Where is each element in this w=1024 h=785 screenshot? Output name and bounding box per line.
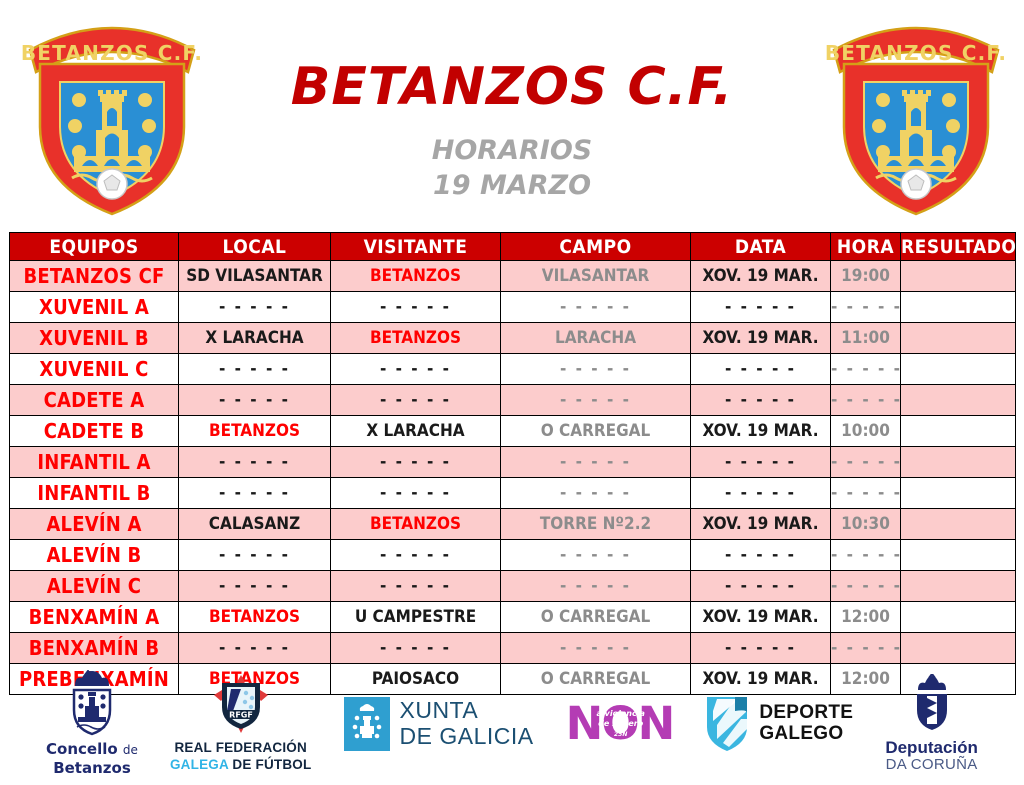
cell-hora: 10:00 xyxy=(831,416,901,447)
non-overlay-text: á violencia de xénero 25N Galicia xyxy=(588,709,654,749)
cell-hora: 12:00 xyxy=(831,602,901,633)
cell-visitante: BETANZOS xyxy=(331,509,501,540)
cell-visitante: U CAMPESTRE xyxy=(331,602,501,633)
concello-line1: Concello xyxy=(46,740,118,758)
deputacion-shield-icon xyxy=(905,674,959,734)
cell-campo: - - - - - xyxy=(501,292,691,323)
deporte-line2: GALEGO xyxy=(759,724,853,745)
non-overlay-line3: 25N xyxy=(614,731,627,738)
sponsor-non-violencia-xenero: NON á violencia de xénero 25N Galicia xyxy=(566,701,674,746)
cell-campo: VILASANTAR xyxy=(501,261,691,292)
cell-data: - - - - - xyxy=(691,478,831,509)
cell-hora: 10:30 xyxy=(831,509,901,540)
column-header-hora: HORA xyxy=(831,233,901,261)
table-row: ALEVÍN ACALASANZBETANZOSTORRE Nº2.2XOV. … xyxy=(10,509,1016,540)
cell-campo: - - - - - xyxy=(501,478,691,509)
cell-visitante: - - - - - xyxy=(331,292,501,323)
rfgf-badge-icon: RFGF xyxy=(210,673,272,735)
cell-hora: - - - - - xyxy=(831,292,901,323)
cell-local: SD VILASANTAR xyxy=(179,261,331,292)
cell-resultado xyxy=(901,478,1016,509)
cell-data: - - - - - xyxy=(691,292,831,323)
cell-campo: - - - - - xyxy=(501,354,691,385)
cell-data: - - - - - xyxy=(691,571,831,602)
cell-visitante: BETANZOS xyxy=(331,261,501,292)
cell-local: X LARACHA xyxy=(179,323,331,354)
cell-campo: - - - - - xyxy=(501,633,691,664)
column-header-resultado: RESULTADO xyxy=(901,233,1016,261)
table-row: INFANTIL B- - - - -- - - - -- - - - -- -… xyxy=(10,478,1016,509)
cell-resultado xyxy=(901,540,1016,571)
rfgf-line2a: GALEGA xyxy=(170,757,228,772)
cell-local: CALASANZ xyxy=(179,509,331,540)
cell-hora: - - - - - xyxy=(831,354,901,385)
table-row: XUVENIL BX LARACHABETANZOSLARACHAXOV. 19… xyxy=(10,323,1016,354)
table-row: BENXAMÍN ABETANZOSU CAMPESTREO CARREGALX… xyxy=(10,602,1016,633)
cell-resultado xyxy=(901,602,1016,633)
subtitle-horarios: HORARIOS xyxy=(220,133,804,168)
svg-text:BETANZOS C.F.: BETANZOS C.F. xyxy=(825,41,1007,65)
sponsor-logos-bar: Concello de Betanzos RFGF REAL FEDERACIÓ… xyxy=(0,662,1024,785)
non-overlay-line4: Galicia xyxy=(609,741,632,748)
cell-equipos: INFANTIL A xyxy=(10,447,179,478)
cell-resultado xyxy=(901,292,1016,323)
cell-equipos: ALEVÍN C xyxy=(10,571,179,602)
deputacion-line1: Deputación xyxy=(885,738,978,757)
cell-hora: 19:00 xyxy=(831,261,901,292)
table-header: EQUIPOS LOCAL VISITANTE CAMPO DATA HORA … xyxy=(10,233,1016,261)
cell-equipos: INFANTIL B xyxy=(10,478,179,509)
cell-visitante: - - - - - xyxy=(331,540,501,571)
cell-campo: O CARREGAL xyxy=(501,602,691,633)
cell-hora: - - - - - xyxy=(831,540,901,571)
non-wordmark-icon: NON á violencia de xénero 25N Galicia xyxy=(566,701,674,746)
title-block: BETANZOS C.F. HORARIOS 19 MARZO xyxy=(220,60,804,203)
cell-data: - - - - - xyxy=(691,633,831,664)
table-row: INFANTIL A- - - - -- - - - -- - - - -- -… xyxy=(10,447,1016,478)
cell-local: - - - - - xyxy=(179,385,331,416)
column-header-data: DATA xyxy=(691,233,831,261)
table-body: BETANZOS CFSD VILASANTARBETANZOSVILASANT… xyxy=(10,261,1016,695)
cell-campo: - - - - - xyxy=(501,571,691,602)
cell-visitante: - - - - - xyxy=(331,478,501,509)
club-crest-left-icon: BETANZOS C.F. xyxy=(12,8,212,223)
rfgf-line1: REAL FEDERACIÓN xyxy=(174,740,307,755)
cell-hora: - - - - - xyxy=(831,478,901,509)
sponsor-deporte-label: DEPORTE GALEGO xyxy=(759,703,853,745)
cell-equipos: XUVENIL A xyxy=(10,292,179,323)
cell-local: - - - - - xyxy=(179,540,331,571)
xunta-badge-icon xyxy=(344,697,390,751)
cell-local: BETANZOS xyxy=(179,416,331,447)
cell-data: - - - - - xyxy=(691,447,831,478)
concello-shield-icon xyxy=(63,670,121,736)
cell-campo: O CARREGAL xyxy=(501,416,691,447)
schedule-table-container: EQUIPOS LOCAL VISITANTE CAMPO DATA HORA … xyxy=(9,232,1015,695)
cell-local: - - - - - xyxy=(179,354,331,385)
cell-local: - - - - - xyxy=(179,478,331,509)
subtitle-date: 19 MARZO xyxy=(220,168,804,203)
table-row: ALEVÍN C- - - - -- - - - -- - - - -- - -… xyxy=(10,571,1016,602)
non-overlay-line1: á violencia xyxy=(596,709,644,718)
column-header-visitante: VISITANTE xyxy=(331,233,501,261)
cell-resultado xyxy=(901,323,1016,354)
cell-equipos: ALEVÍN B xyxy=(10,540,179,571)
column-header-local: LOCAL xyxy=(179,233,331,261)
sponsor-rfgf-label: REAL FEDERACIÓN GALEGA DE FÚTBOL xyxy=(170,740,311,774)
cell-resultado xyxy=(901,509,1016,540)
table-row: ALEVÍN B- - - - -- - - - -- - - - -- - -… xyxy=(10,540,1016,571)
deporte-line1: DEPORTE xyxy=(759,703,853,724)
column-header-campo: CAMPO xyxy=(501,233,691,261)
cell-visitante: X LARACHA xyxy=(331,416,501,447)
sponsor-xunta-de-galicia: XUNTA DE GALICIA xyxy=(344,697,534,751)
concello-line-small: de xyxy=(123,743,138,757)
cell-local: - - - - - xyxy=(179,633,331,664)
concello-line2: Betanzos xyxy=(53,759,131,777)
cell-resultado xyxy=(901,354,1016,385)
xunta-line2: DE GALICIA xyxy=(400,724,534,749)
table-row: XUVENIL C- - - - -- - - - -- - - - -- - … xyxy=(10,354,1016,385)
cell-local: - - - - - xyxy=(179,447,331,478)
table-row: BETANZOS CFSD VILASANTARBETANZOSVILASANT… xyxy=(10,261,1016,292)
svg-text:RFGF: RFGF xyxy=(229,711,253,720)
schedule-table: EQUIPOS LOCAL VISITANTE CAMPO DATA HORA … xyxy=(9,232,1016,695)
table-header-row: EQUIPOS LOCAL VISITANTE CAMPO DATA HORA … xyxy=(10,233,1016,261)
cell-data: XOV. 19 MAR. xyxy=(691,261,831,292)
cell-hora: - - - - - xyxy=(831,447,901,478)
rfgf-line2b: DE FÚTBOL xyxy=(232,757,311,772)
cell-campo: TORRE Nº2.2 xyxy=(501,509,691,540)
cell-visitante: - - - - - xyxy=(331,571,501,602)
cell-data: XOV. 19 MAR. xyxy=(691,323,831,354)
sponsor-concello-betanzos: Concello de Betanzos xyxy=(46,670,138,778)
cell-campo: - - - - - xyxy=(501,540,691,571)
cell-hora: 11:00 xyxy=(831,323,901,354)
cell-equipos: CADETE B xyxy=(10,416,179,447)
cell-hora: - - - - - xyxy=(831,385,901,416)
cell-hora: - - - - - xyxy=(831,571,901,602)
cell-resultado xyxy=(901,447,1016,478)
cell-data: - - - - - xyxy=(691,385,831,416)
cell-visitante: - - - - - xyxy=(331,385,501,416)
cell-campo: - - - - - xyxy=(501,447,691,478)
sponsor-deputacion-label: Deputación DA CORUÑA xyxy=(885,738,978,774)
table-row: CADETE BBETANZOSX LARACHAO CARREGALXOV. … xyxy=(10,416,1016,447)
sponsor-real-federacion-galega-futbol: RFGF REAL FEDERACIÓN GALEGA DE FÚTBOL xyxy=(170,673,311,774)
cell-campo: LARACHA xyxy=(501,323,691,354)
cell-data: XOV. 19 MAR. xyxy=(691,509,831,540)
cell-local: BETANZOS xyxy=(179,602,331,633)
sponsor-xunta-label: XUNTA DE GALICIA xyxy=(400,698,534,749)
sponsor-concello-label: Concello de Betanzos xyxy=(46,740,138,778)
svg-text:BETANZOS C.F.: BETANZOS C.F. xyxy=(21,41,203,65)
cell-local: - - - - - xyxy=(179,571,331,602)
cell-resultado xyxy=(901,571,1016,602)
cell-equipos: XUVENIL C xyxy=(10,354,179,385)
cell-hora: - - - - - xyxy=(831,633,901,664)
deporte-galego-icon xyxy=(705,695,749,753)
cell-data: XOV. 19 MAR. xyxy=(691,602,831,633)
cell-data: - - - - - xyxy=(691,540,831,571)
table-row: CADETE A- - - - -- - - - -- - - - -- - -… xyxy=(10,385,1016,416)
page-title: BETANZOS C.F. xyxy=(220,60,804,115)
cell-resultado xyxy=(901,416,1016,447)
page-header: BETANZOS C.F. xyxy=(0,0,1024,232)
cell-equipos: ALEVÍN A xyxy=(10,509,179,540)
cell-visitante: BETANZOS xyxy=(331,323,501,354)
cell-data: XOV. 19 MAR. xyxy=(691,416,831,447)
cell-campo: - - - - - xyxy=(501,385,691,416)
cell-local: - - - - - xyxy=(179,292,331,323)
sponsor-deporte-galego: DEPORTE GALEGO xyxy=(705,695,853,753)
cell-visitante: - - - - - xyxy=(331,354,501,385)
cell-equipos: BENXAMÍN A xyxy=(10,602,179,633)
cell-visitante: - - - - - xyxy=(331,447,501,478)
sponsor-deputacion-da-coruna: Deputación DA CORUÑA xyxy=(885,674,978,774)
cell-equipos: BENXAMÍN B xyxy=(10,633,179,664)
xunta-line1: XUNTA xyxy=(400,698,534,723)
cell-data: - - - - - xyxy=(691,354,831,385)
cell-equipos: XUVENIL B xyxy=(10,323,179,354)
column-header-equipos: EQUIPOS xyxy=(10,233,179,261)
cell-visitante: - - - - - xyxy=(331,633,501,664)
cell-resultado xyxy=(901,385,1016,416)
table-row: BENXAMÍN B- - - - -- - - - -- - - - -- -… xyxy=(10,633,1016,664)
non-overlay-line2: de xénero xyxy=(598,719,643,728)
cell-resultado xyxy=(901,261,1016,292)
deputacion-line2: DA CORUÑA xyxy=(885,757,978,774)
club-crest-right-icon: BETANZOS C.F. xyxy=(816,8,1016,223)
cell-equipos: CADETE A xyxy=(10,385,179,416)
cell-resultado xyxy=(901,633,1016,664)
table-row: XUVENIL A- - - - -- - - - -- - - - -- - … xyxy=(10,292,1016,323)
cell-equipos: BETANZOS CF xyxy=(10,261,179,292)
